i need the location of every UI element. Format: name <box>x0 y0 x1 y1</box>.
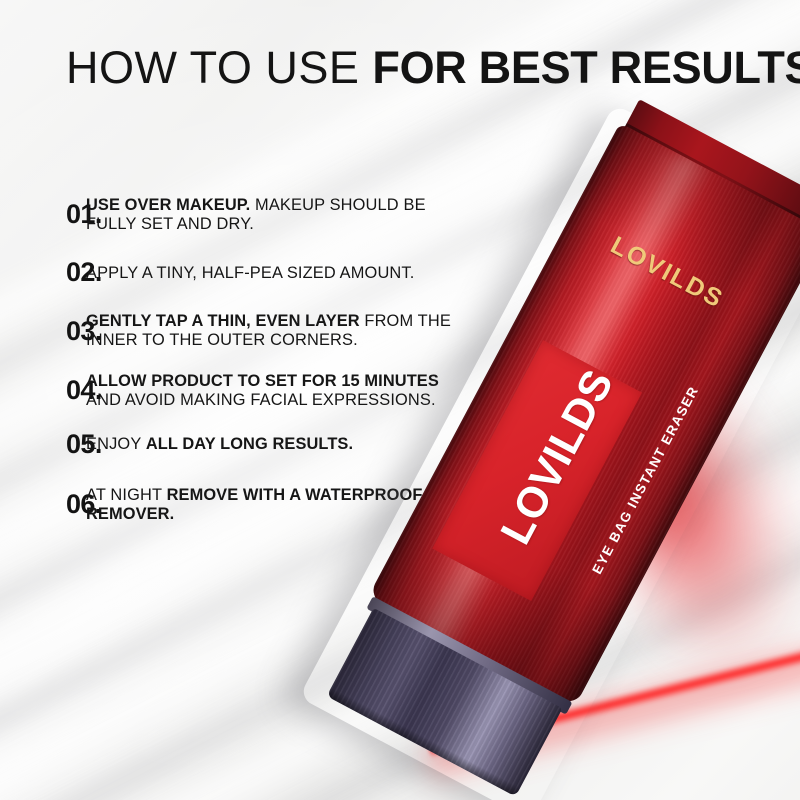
step-number: 06. <box>0 491 78 518</box>
step-item: 06. AT NIGHT REMOVE WITH A WATERPROOF RE… <box>0 486 470 523</box>
step-text-regular: AND AVOID MAKING FACIAL EXPRESSIONS. <box>86 391 436 409</box>
step-text-bold: ALL DAY LONG RESULTS. <box>146 435 353 453</box>
step-text: ALLOW PRODUCT TO SET FOR 15 MINUTES AND … <box>78 372 470 409</box>
step-text: ENJOY ALL DAY LONG RESULTS. <box>78 435 470 454</box>
page-title-light: HOW TO USE <box>66 42 372 93</box>
page-title-bold: FOR BEST RESULTS <box>372 42 800 93</box>
step-number: 05. <box>0 431 78 458</box>
step-number: 04. <box>0 377 78 404</box>
step-item: 01. USE OVER MAKEUP. MAKEUP SHOULD BE FU… <box>0 196 470 233</box>
step-text: AT NIGHT REMOVE WITH A WATERPROOF REMOVE… <box>78 486 470 523</box>
step-text-regular: ENJOY <box>86 435 146 453</box>
step-text-regular: AT NIGHT <box>86 486 167 504</box>
step-item: 04. ALLOW PRODUCT TO SET FOR 15 MINUTES … <box>0 372 470 409</box>
step-number: 01. <box>0 201 78 228</box>
step-text-bold: ALLOW PRODUCT TO SET FOR 15 MINUTES <box>86 372 439 390</box>
poster-canvas: HOW TO USE FOR BEST RESULTS 01. USE OVER… <box>0 0 800 800</box>
step-item: 03. GENTLY TAP A THIN, EVEN LAYER FROM T… <box>0 312 470 349</box>
page-title: HOW TO USE FOR BEST RESULTS <box>66 42 766 94</box>
step-item: 02. APPLY A TINY, HALF-PEA SIZED AMOUNT. <box>0 259 470 286</box>
step-text: GENTLY TAP A THIN, EVEN LAYER FROM THE I… <box>78 312 470 349</box>
steps-list: 01. USE OVER MAKEUP. MAKEUP SHOULD BE FU… <box>0 196 470 545</box>
step-number: 03. <box>0 318 78 345</box>
step-text-regular: APPLY A TINY, HALF-PEA SIZED AMOUNT. <box>86 264 414 282</box>
step-text-bold: GENTLY TAP A THIN, EVEN LAYER <box>86 312 360 330</box>
step-item: 05. ENJOY ALL DAY LONG RESULTS. <box>0 431 470 458</box>
step-number: 02. <box>0 259 78 286</box>
step-text-bold: USE OVER MAKEUP. <box>86 196 250 214</box>
step-text: USE OVER MAKEUP. MAKEUP SHOULD BE FULLY … <box>78 196 470 233</box>
step-text: APPLY A TINY, HALF-PEA SIZED AMOUNT. <box>78 264 470 283</box>
